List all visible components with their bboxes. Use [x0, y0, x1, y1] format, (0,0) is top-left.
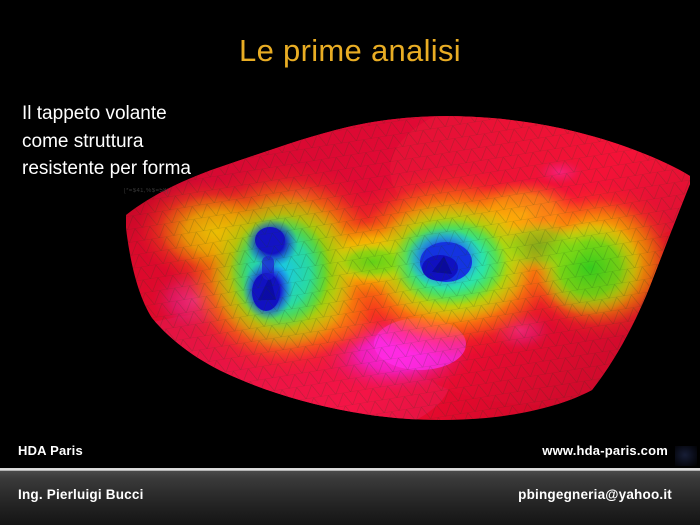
fem-surface-plot	[0, 0, 700, 470]
subtitle-line-3: resistente per forma	[22, 155, 282, 183]
subtitle-line-2: come struttura	[22, 128, 282, 156]
page-title: Le prime analisi	[0, 33, 700, 69]
presentation-slide: [*=$41,%$=58] Le prime analisi Il tappet…	[0, 0, 700, 525]
fem-contour-figure: [*=$41,%$=58]	[0, 0, 700, 470]
slide-subtitle: Il tappeto volante come struttura resist…	[22, 100, 282, 183]
website-link[interactable]: www.hda-paris.com	[542, 443, 668, 458]
brand-label: HDA Paris	[18, 443, 83, 458]
corner-artifact-icon	[675, 446, 697, 466]
footer-email-link[interactable]: pbingegneria@yahoo.it	[518, 487, 672, 502]
footer-author-label: Ing. Pierluigi Bucci	[18, 487, 144, 502]
fem-annotation-text: [*=$41,%$=58]	[124, 188, 169, 194]
subtitle-line-1: Il tappeto volante	[22, 100, 282, 128]
